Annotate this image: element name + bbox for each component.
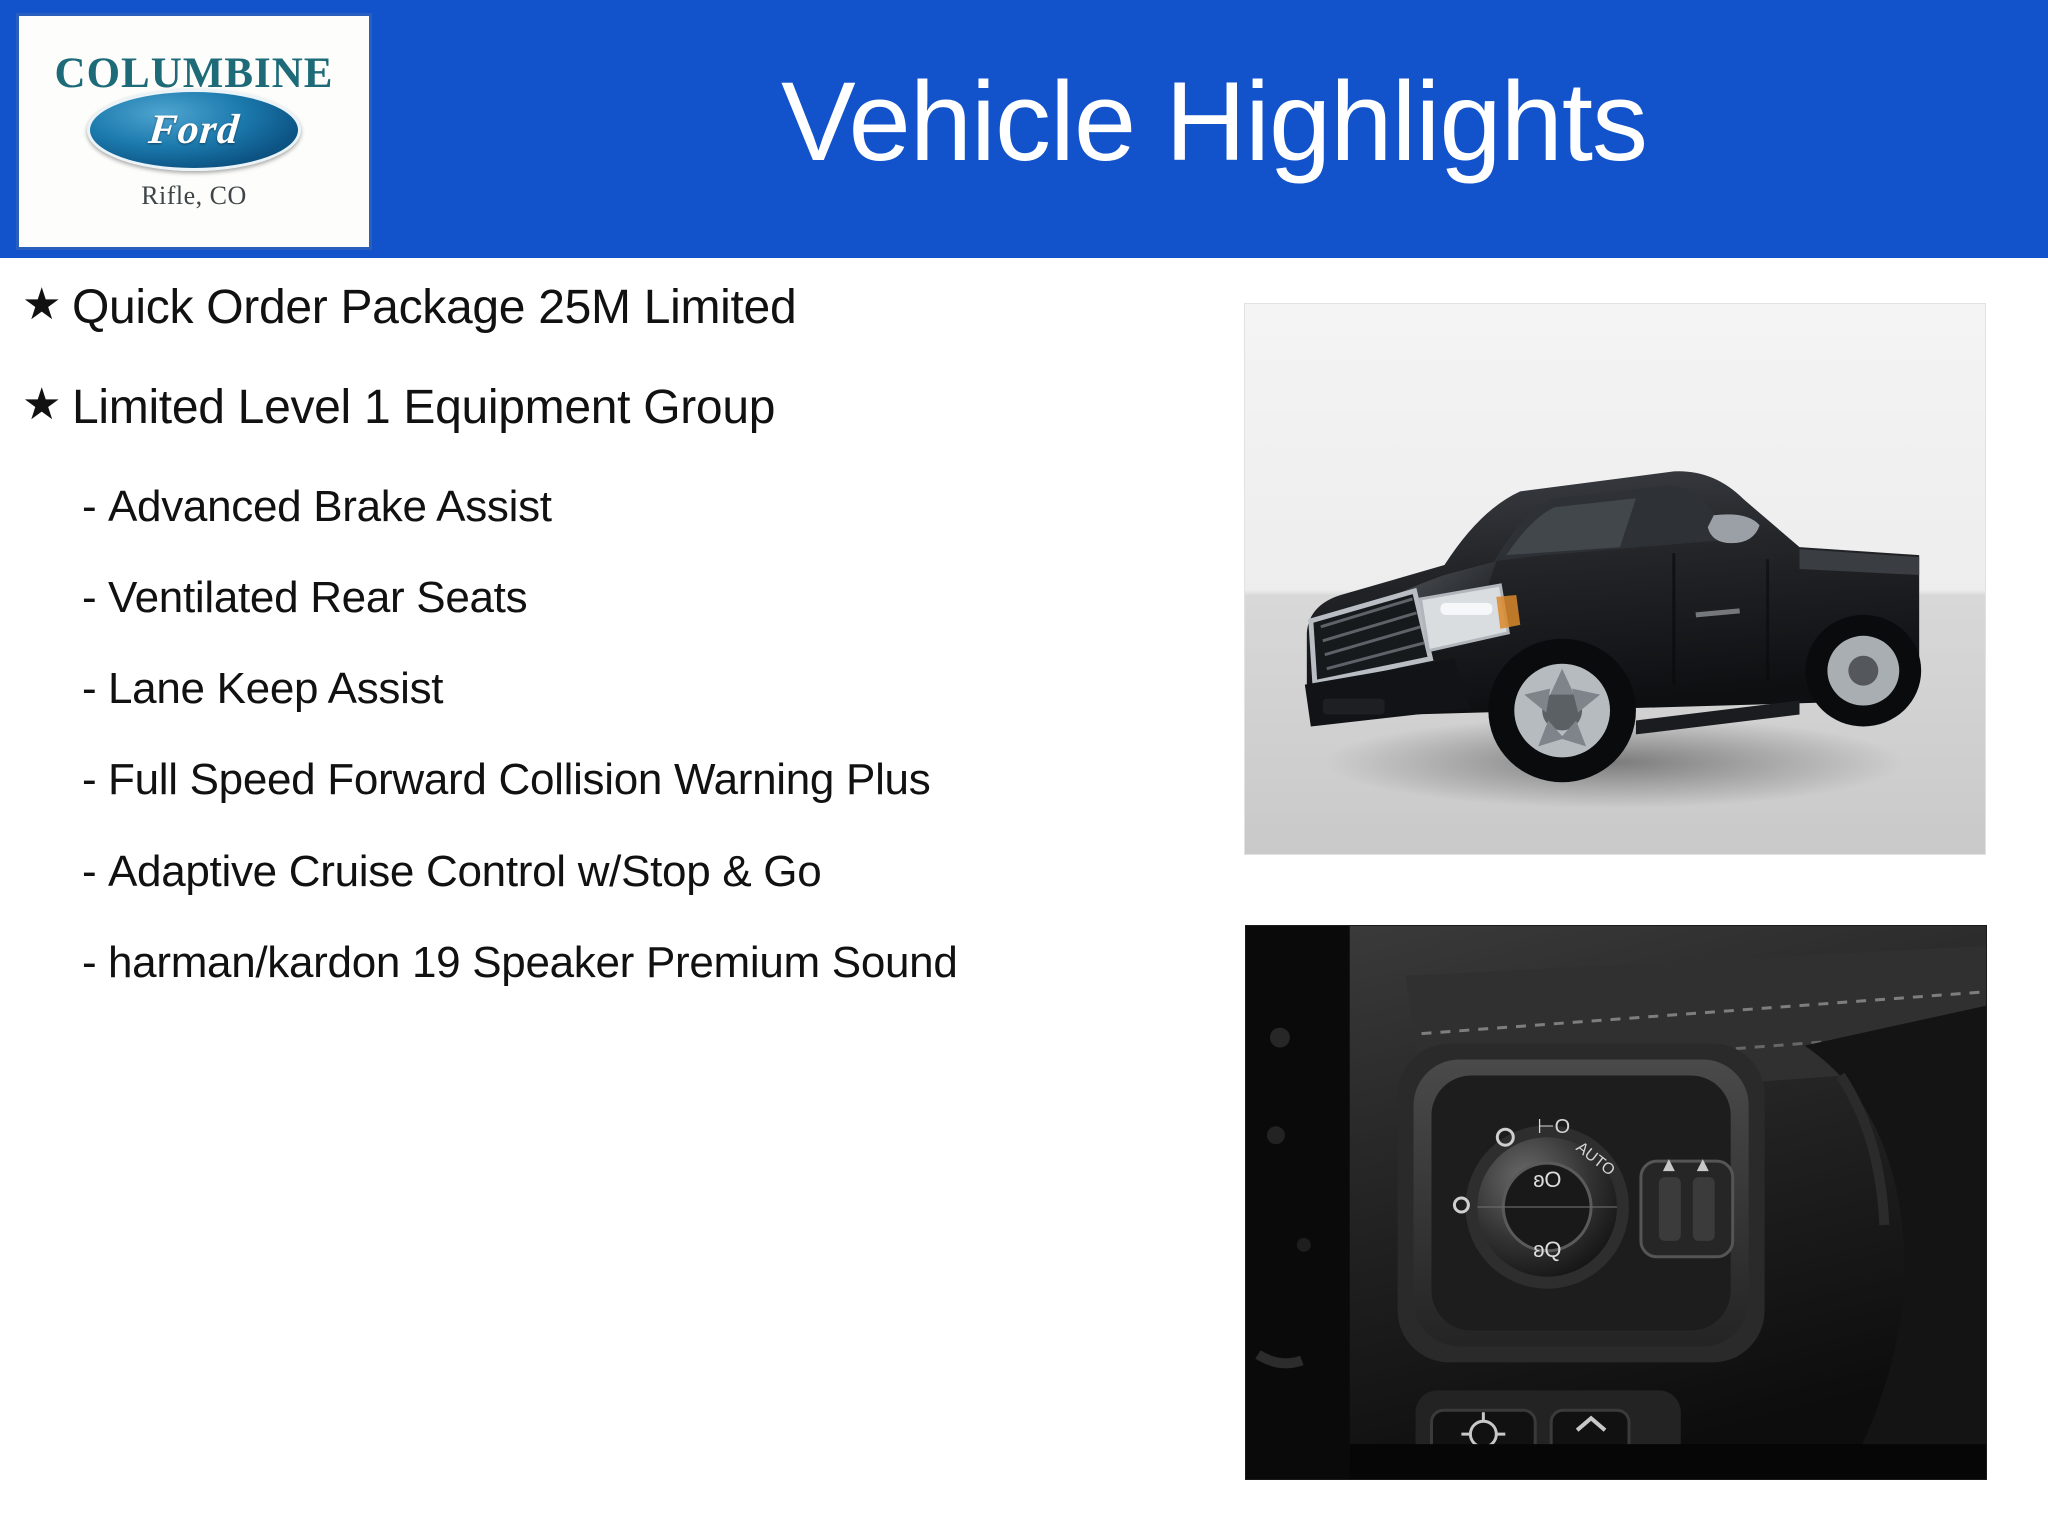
svg-text:⊢O: ⊢O: [1537, 1116, 1570, 1138]
list-item: - Ventilated Rear Seats: [82, 573, 1112, 622]
list-item-label: harman/kardon 19 Speaker Premium Sound: [108, 938, 958, 987]
dash-bullet-icon: -: [82, 573, 108, 622]
svg-text:ʚO: ʚO: [1533, 1167, 1561, 1192]
list-item: ★ Quick Order Package 25M Limited: [22, 282, 1210, 334]
page-title: Vehicle Highlights: [380, 0, 2048, 258]
list-item: - Adaptive Cruise Control w/Stop & Go: [82, 847, 1112, 896]
list-item-label: Ventilated Rear Seats: [108, 573, 527, 622]
dealer-logo: COLUMBINE Ford Rifle, CO: [16, 13, 372, 250]
slide-header: COLUMBINE Ford Rifle, CO Vehicle Highlig…: [0, 0, 2048, 258]
list-item-label: Full Speed Forward Collision Warning Plu…: [108, 755, 930, 804]
vehicle-exterior-photo: [1244, 303, 1986, 855]
ford-oval-label: Ford: [146, 106, 241, 154]
list-item-label: Lane Keep Assist: [108, 664, 443, 713]
list-item-label: Advanced Brake Assist: [108, 482, 552, 531]
truck-illustration: [1245, 304, 1985, 854]
dash-bullet-icon: -: [82, 664, 108, 713]
list-item: ★ Limited Level 1 Equipment Group: [22, 382, 1210, 434]
interior-illustration: ⊢O AUTO ʚO ʚQ: [1246, 926, 1986, 1479]
list-item-label: Limited Level 1 Equipment Group: [72, 382, 775, 434]
star-bullet-icon: ★: [22, 282, 72, 328]
star-bullet-icon: ★: [22, 382, 72, 428]
svg-text:ʚQ: ʚQ: [1533, 1237, 1561, 1262]
dealer-logo-city: Rifle, CO: [141, 181, 247, 211]
highlights-list: ★ Quick Order Package 25M Limited ★ Limi…: [0, 258, 1210, 1536]
dash-bullet-icon: -: [82, 847, 108, 896]
list-item: - Advanced Brake Assist: [82, 482, 1112, 531]
ford-oval-icon: Ford: [87, 89, 301, 171]
list-item: - harman/kardon 19 Speaker Premium Sound: [82, 938, 1112, 987]
dash-bullet-icon: -: [82, 938, 108, 987]
vehicle-interior-controls-photo: ⊢O AUTO ʚO ʚQ: [1245, 925, 1987, 1480]
list-item: - Lane Keep Assist: [82, 664, 1112, 713]
dash-bullet-icon: -: [82, 755, 108, 804]
list-item-label: Quick Order Package 25M Limited: [72, 282, 796, 334]
dash-bullet-icon: -: [82, 482, 108, 531]
list-item: - Full Speed Forward Collision Warning P…: [82, 755, 1112, 804]
list-item-label: Adaptive Cruise Control w/Stop & Go: [108, 847, 821, 896]
